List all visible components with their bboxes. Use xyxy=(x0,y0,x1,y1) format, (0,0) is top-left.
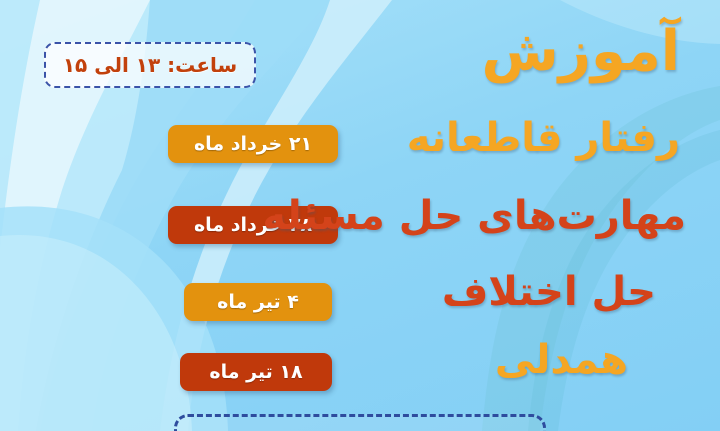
date-button-4[interactable]: ۱۸ تیر ماه xyxy=(180,353,332,391)
poster-canvas: ساعت: ۱۳ الی ۱۵ ۲۱ خرداد ماه ۲۸ خرداد ما… xyxy=(0,0,720,431)
time-badge-label: ساعت: ۱۳ الی ۱۵ xyxy=(63,53,237,77)
date-button-4-label: ۱۸ تیر ماه xyxy=(209,361,302,383)
topic-item-3: حل اختلاف xyxy=(442,272,656,312)
bottom-dashed-panel xyxy=(174,414,546,431)
date-button-3[interactable]: ۴ تیر ماه xyxy=(184,283,332,321)
time-badge: ساعت: ۱۳ الی ۱۵ xyxy=(44,42,256,88)
topic-item-4: همدلی xyxy=(495,340,628,380)
topic-item-2: مهارت‌های حل مسئله xyxy=(262,196,686,236)
topic-item-1: رفتار قاطعانه xyxy=(407,118,680,158)
date-button-1[interactable]: ۲۱ خرداد ماه xyxy=(168,125,338,163)
date-button-3-label: ۴ تیر ماه xyxy=(217,291,299,313)
poster-title: آموزش xyxy=(482,24,681,80)
date-button-1-label: ۲۱ خرداد ماه xyxy=(194,133,312,155)
